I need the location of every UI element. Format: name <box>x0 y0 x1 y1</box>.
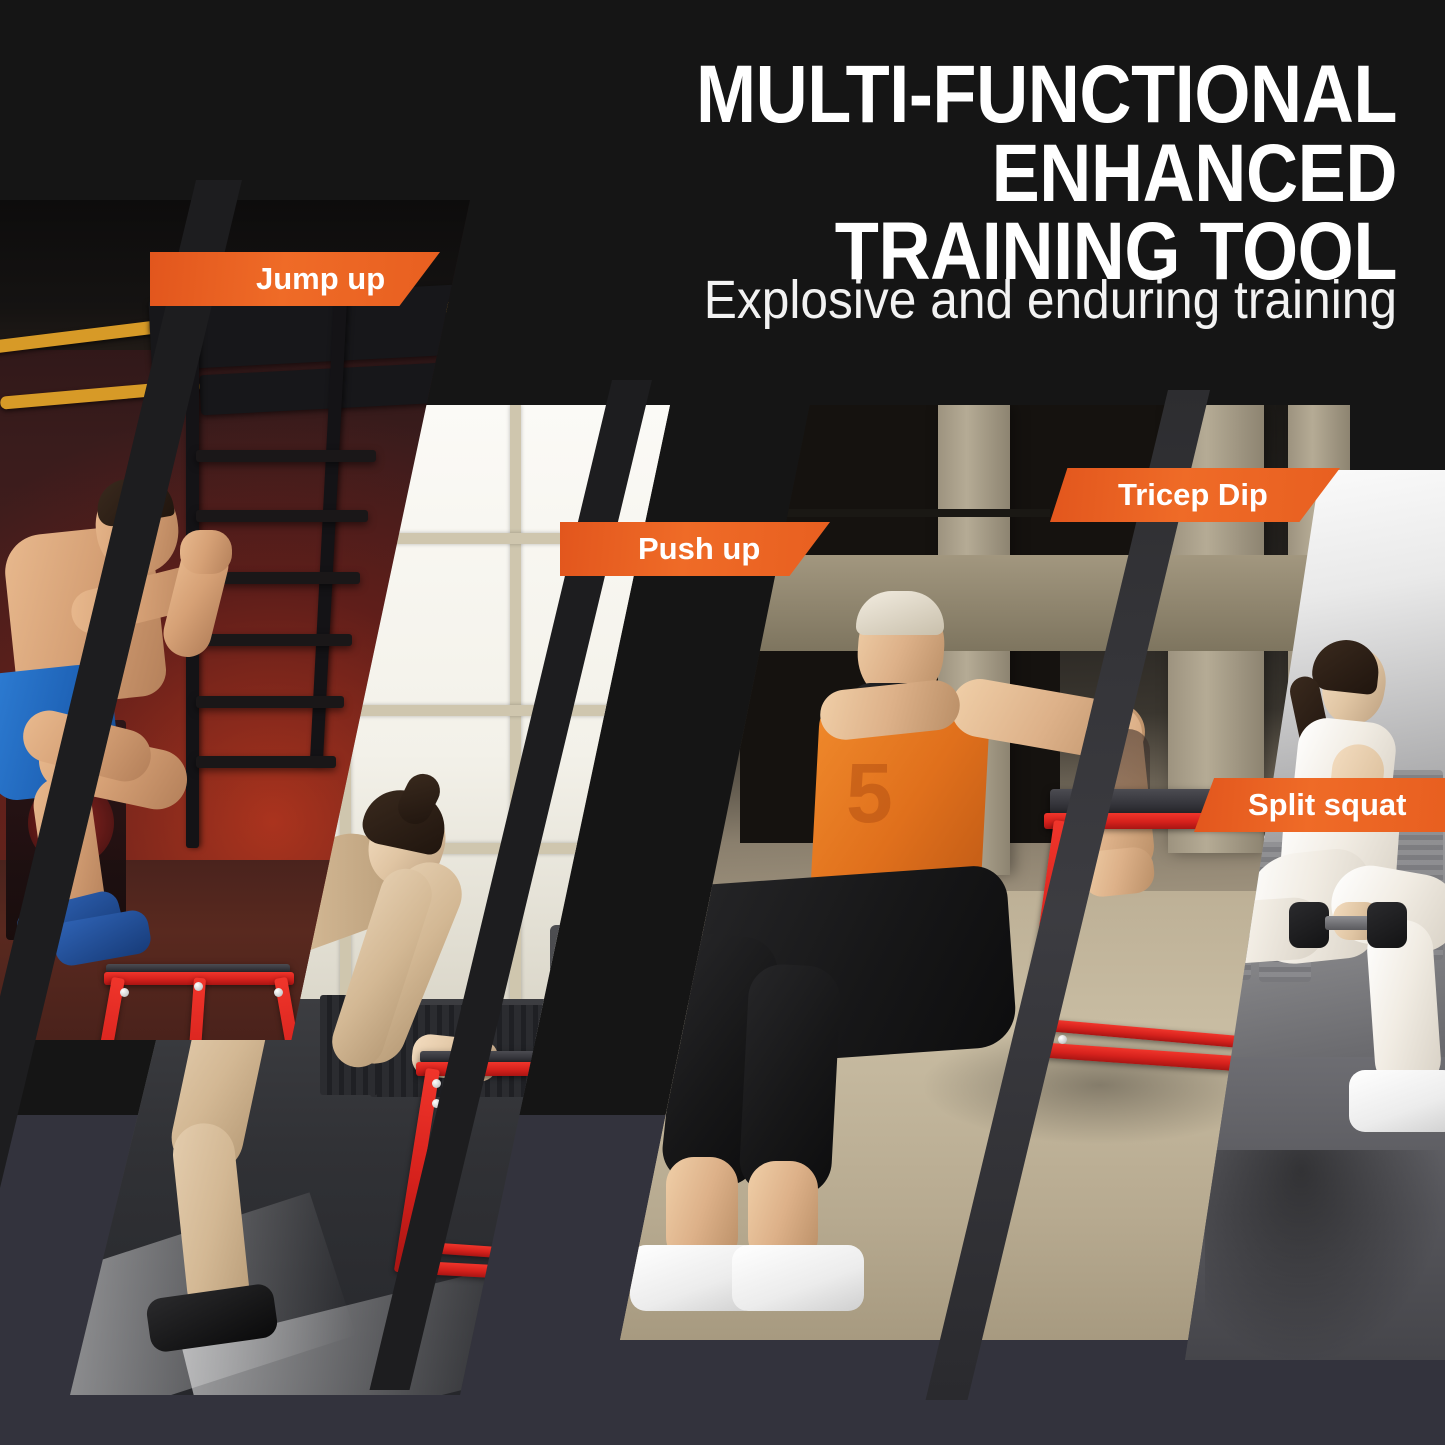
hands <box>180 530 232 574</box>
box-bolt-3 <box>274 988 283 997</box>
page-title-line-2: TRAINING TOOL <box>359 213 1397 292</box>
product-marketing-poster: 5 <box>0 0 1445 1445</box>
label-jump-up: Jump up <box>150 252 440 306</box>
box-bolt-3 <box>634 1079 643 1088</box>
wall-bar-rung-4 <box>196 634 352 646</box>
box-bolt-3 <box>1058 1035 1067 1044</box>
label-split-squat: Split squat <box>1194 778 1445 832</box>
dumbbell-head-right <box>1367 902 1407 948</box>
wall-bar-rung-2 <box>196 510 368 522</box>
box-bolt-4 <box>634 1099 643 1108</box>
jersey-number: 5 <box>846 745 893 842</box>
wall-bar-rung-1 <box>196 450 376 462</box>
dumbbell-bar <box>1325 916 1373 930</box>
box-bolt-1 <box>120 988 129 997</box>
label-push-up: Push up <box>560 522 830 576</box>
page-title: MULTI-FUNCTIONAL ENHANCED TRAINING TOOL <box>359 56 1397 292</box>
page-subtitle: Explosive and enduring training <box>311 272 1397 329</box>
railing <box>770 509 1050 517</box>
shoe-front <box>1349 1070 1445 1132</box>
shoe-right <box>732 1245 864 1311</box>
label-tricep-dip: Tricep Dip <box>1050 468 1340 522</box>
dumbbell <box>1289 908 1407 942</box>
page-title-line-1: MULTI-FUNCTIONAL ENHANCED <box>359 56 1397 213</box>
box-bolt-1 <box>432 1079 441 1088</box>
box-bolt-2 <box>194 982 203 991</box>
plyo-box-panel-1 <box>98 962 298 1040</box>
floor-shadow <box>1205 1150 1445 1360</box>
wall-bar-rung-6 <box>196 756 336 768</box>
concrete-beam <box>740 555 1350 651</box>
hair <box>1310 637 1381 696</box>
wall-bar-rung-5 <box>196 696 344 708</box>
dumbbell-head-left <box>1289 902 1329 948</box>
